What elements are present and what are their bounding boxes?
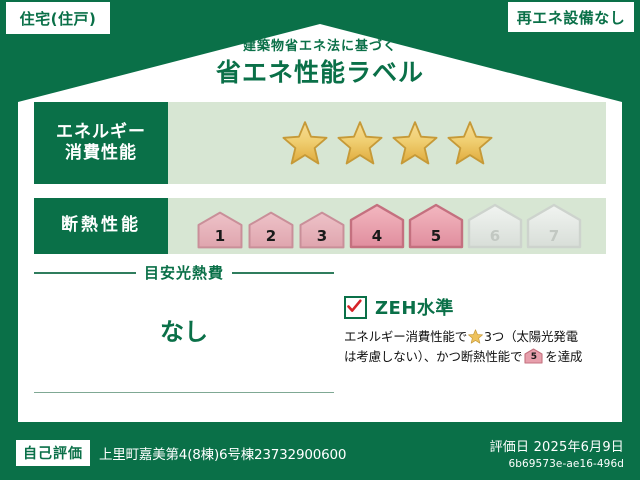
zeh-section: ZEH水準 エネルギー消費性能で 3つ（太陽光発電 は考慮しない）、かつ断熱性能…	[344, 294, 606, 368]
label-title: 建築物省エネ法に基づく 省エネ性能ラベル	[0, 40, 640, 85]
building-type-tab: 住宅(住戸)	[6, 2, 110, 34]
insulation-level-4: 4	[348, 203, 406, 249]
star-icon	[282, 120, 328, 166]
zeh-heading: ZEH水準	[344, 294, 606, 320]
footer-right: 評価日 2025年6月9日 6b69573e-ae16-496d	[490, 436, 624, 470]
zeh-desc-star-count: 3つ（太陽光発電	[484, 329, 578, 344]
zeh-desc-part1: エネルギー消費性能で	[344, 329, 467, 344]
insulation-level-2: 2	[246, 211, 296, 249]
evaluation-date-label: 評価日	[490, 440, 530, 455]
title-subtitle: 建築物省エネ法に基づく	[0, 40, 640, 53]
utility-cost-value: なし	[34, 312, 334, 347]
heading-rule-right	[232, 272, 334, 274]
zeh-title: ZEH水準	[375, 294, 454, 320]
insulation-level-6: 6	[466, 203, 524, 249]
energy-label-card: 住宅(住戸) 再エネ設備なし 建築物省エネ法に基づく 省エネ性能ラベル エネルギ…	[0, 0, 640, 480]
star-icon	[392, 120, 438, 166]
evaluation-date: 評価日 2025年6月9日	[490, 436, 624, 455]
self-evaluation-badge: 自己評価	[16, 440, 90, 466]
utility-cost-heading: 目安光熱費	[34, 262, 334, 283]
insulation-performance-row: 断熱性能 1234567	[34, 198, 606, 254]
insulation-level-value: 5	[407, 227, 465, 245]
insulation-level-value: 2	[246, 227, 296, 245]
check-icon	[347, 299, 362, 314]
utility-cost-heading-text: 目安光熱費	[144, 262, 224, 283]
insulation-performance-label: 断熱性能	[34, 198, 168, 254]
energy-performance-row: エネルギー 消費性能	[34, 102, 606, 184]
footer-left: 自己評価 上里町嘉美第4(8棟)6号棟23732900600	[16, 440, 346, 466]
insulation-level-value: 7	[525, 227, 583, 245]
star-icon	[337, 120, 383, 166]
energy-label-line2: 消費性能	[65, 143, 137, 164]
insulation-performance-value: 1234567	[168, 198, 606, 254]
inline-house-value: 5	[524, 350, 543, 365]
insulation-level-value: 4	[348, 227, 406, 245]
insulation-level-1: 1	[195, 211, 245, 249]
title-main: 省エネ性能ラベル	[0, 60, 640, 85]
insulation-level-3: 3	[297, 211, 347, 249]
utility-cost-divider	[34, 392, 334, 393]
insulation-level-5: 5	[407, 203, 465, 249]
insulation-level-value: 6	[466, 227, 524, 245]
energy-performance-value	[168, 102, 606, 184]
energy-label-line1: エネルギー	[56, 122, 146, 143]
inline-house-badge: 5	[524, 348, 543, 364]
energy-performance-label: エネルギー 消費性能	[34, 102, 168, 184]
zeh-desc-part2: は考慮しない）、かつ断熱性能で	[344, 349, 522, 364]
star-icon	[447, 120, 493, 166]
property-address: 上里町嘉美第4(8棟)6号棟23732900600	[99, 443, 346, 463]
zeh-checkbox[interactable]	[344, 296, 367, 319]
evaluation-id: 6b69573e-ae16-496d	[490, 458, 624, 470]
evaluation-date-value: 2025年6月9日	[534, 440, 624, 455]
inline-star-icon	[468, 329, 483, 344]
renewable-energy-tab: 再エネ設備なし	[508, 2, 634, 32]
insulation-level-value: 3	[297, 227, 347, 245]
insulation-level-scale: 1234567	[195, 203, 583, 249]
insulation-level-7: 7	[525, 203, 583, 249]
heading-rule-left	[34, 272, 136, 274]
insulation-level-value: 1	[195, 227, 245, 245]
zeh-desc-part3: を達成	[545, 349, 582, 364]
star-rating	[282, 120, 493, 166]
zeh-description: エネルギー消費性能で 3つ（太陽光発電 は考慮しない）、かつ断熱性能で 5を達成	[344, 327, 606, 368]
